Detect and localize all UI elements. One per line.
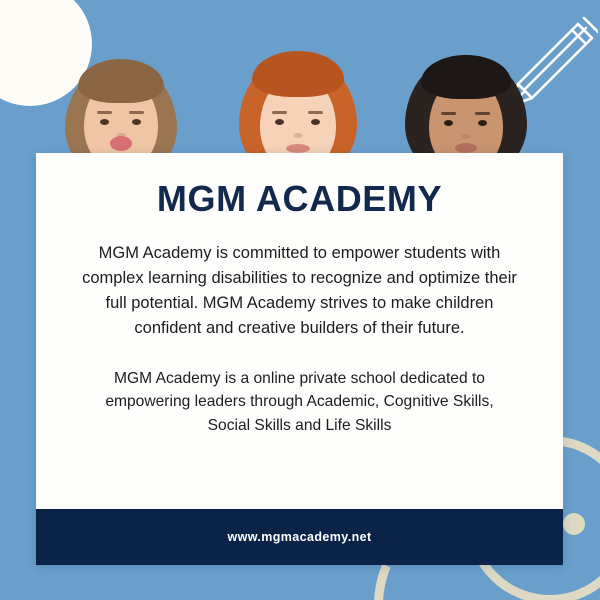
description-paragraph: MGM Academy is a online private school d… [80,367,519,437]
hair-top [421,55,511,99]
poster: MGM ACADEMY MGM Academy is committed to … [0,0,600,600]
dot-decoration [563,513,585,535]
hair-top [252,51,344,97]
mouth [286,144,310,153]
footer-bar: www.mgmacademy.net [36,509,563,565]
mission-paragraph: MGM Academy is committed to empower stud… [80,241,519,341]
hair-top [78,59,164,103]
mouth [455,143,477,153]
info-board: MGM ACADEMY MGM Academy is committed to … [36,153,563,565]
page-title: MGM ACADEMY [76,179,523,219]
website-url[interactable]: www.mgmacademy.net [227,530,371,544]
board-content: MGM ACADEMY MGM Academy is committed to … [36,153,563,437]
mouth [110,136,132,151]
children-photo [0,0,600,175]
